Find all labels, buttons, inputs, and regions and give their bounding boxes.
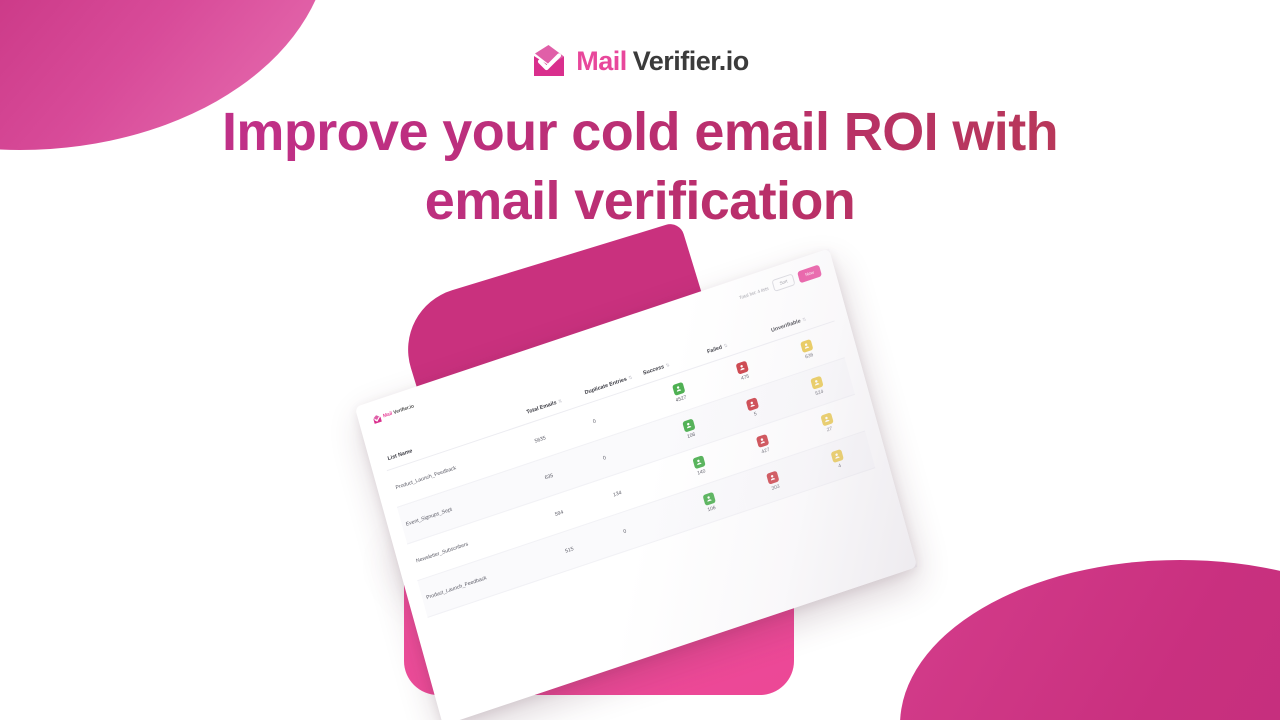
success-value: 4527 xyxy=(675,394,687,403)
sort-arrow-icon: ⇅ xyxy=(558,398,563,404)
brand-word-secondary: Verifier.io xyxy=(633,46,749,76)
list-count-label: Total list: 4 lists xyxy=(739,285,770,300)
brand-word-primary: Mail xyxy=(576,46,627,76)
lists-table: List Name Total Emails⇅ Duplicate Entrie… xyxy=(381,301,875,618)
sort-arrow-icon: ⇅ xyxy=(628,375,633,381)
user-question-icon xyxy=(830,449,843,463)
column-label: List Name xyxy=(387,448,413,462)
user-question-icon xyxy=(800,339,813,353)
unverifiable-value: 27 xyxy=(826,426,833,434)
user-x-icon xyxy=(736,361,749,375)
headline-line-1: Improve your cold email ROI with xyxy=(222,102,1058,162)
dashboard-brand-word-secondary: Verifier.io xyxy=(393,403,415,416)
success-value: 106 xyxy=(707,505,717,513)
failed-value: 303 xyxy=(771,483,781,491)
failed-value: 427 xyxy=(761,447,771,455)
unverifiable-value: 4 xyxy=(838,463,842,470)
page-headline: Improve your cold email ROI with email v… xyxy=(140,98,1140,236)
dashboard-toolbar: Total list: 4 lists Sort New xyxy=(738,264,823,303)
user-check-icon xyxy=(672,382,685,396)
user-question-icon xyxy=(820,412,833,426)
column-label: Success xyxy=(642,364,664,377)
user-x-icon xyxy=(766,471,779,485)
brand-wordmark: MailVerifier.io xyxy=(576,48,749,75)
user-x-icon xyxy=(746,397,759,411)
sort-arrow-icon: ⇅ xyxy=(665,362,670,368)
column-label: Unverifiable xyxy=(771,318,802,334)
failed-value: 475 xyxy=(740,373,750,381)
user-question-icon xyxy=(810,376,823,390)
envelope-check-icon xyxy=(531,44,567,78)
headline-line-2: email verification xyxy=(140,167,1140,236)
sort-arrow-icon: ⇅ xyxy=(723,343,728,349)
brand-logo: MailVerifier.io xyxy=(0,44,1280,78)
user-check-icon xyxy=(702,492,715,506)
failed-value: 5 xyxy=(753,411,757,418)
new-list-button[interactable]: New xyxy=(797,264,822,283)
lists-table-body: Product_Launch_Feedback563504527475636Ev… xyxy=(387,321,875,617)
envelope-check-icon xyxy=(372,413,383,425)
sort-button[interactable]: Sort xyxy=(772,273,796,292)
user-x-icon xyxy=(756,434,769,448)
dashboard-brand-word-primary: Mail xyxy=(382,411,392,420)
unverifiable-value: 636 xyxy=(805,352,815,360)
promo-banner: MailVerifier.io Improve your cold email … xyxy=(0,0,1280,720)
column-label: Failed xyxy=(707,345,723,356)
sort-arrow-icon: ⇅ xyxy=(802,316,807,322)
user-check-icon xyxy=(692,455,705,469)
success-value: 106 xyxy=(687,432,697,440)
unverifiable-value: 524 xyxy=(815,389,825,397)
column-label: Total Emails xyxy=(526,400,557,416)
user-check-icon xyxy=(682,419,695,433)
dashboard-brand-wordmark: MailVerifier.io xyxy=(382,403,414,419)
success-value: 140 xyxy=(697,468,707,476)
dashboard-card-wrapper: MailVerifier.io Total list: 4 lists Sort… xyxy=(386,322,886,652)
